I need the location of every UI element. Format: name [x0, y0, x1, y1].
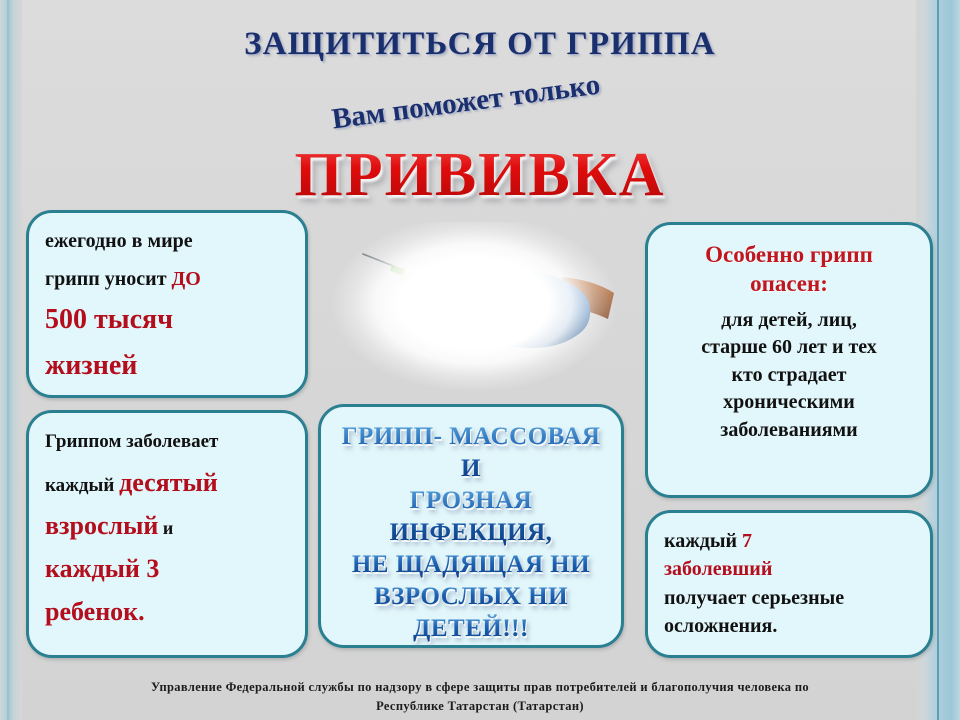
annual-line-2-plain: грипп уносит	[45, 268, 172, 290]
risk-body: для детей, лиц, старше 60 лет и тех кто …	[658, 307, 920, 445]
gloved-hand-syringe-photo	[330, 222, 630, 402]
complications-line-1-plain: каждый	[664, 530, 742, 552]
annual-line-1: ежегодно в мире	[45, 227, 289, 255]
complications-line-4: осложнения.	[664, 612, 914, 640]
risk-body-line-1: для детей, лиц,	[658, 307, 920, 335]
center-line-2: ГРОЗНАЯ ИНФЕКЦИЯ,	[331, 485, 611, 549]
fact-box-complications-content: каждый 7 заболевший получает серьезные о…	[648, 513, 930, 655]
fact-box-annual-deaths: ежегодно в мире грипп уносит ДО 500 тыся…	[26, 210, 308, 398]
center-line-3: НЕ ЩАДЯЩАЯ НИ	[331, 549, 611, 581]
page-subtitle-text: Вам поможет только	[330, 69, 602, 137]
complications-line-2: заболевший	[664, 555, 914, 583]
risk-heading-line-1: Особенно грипп	[658, 241, 920, 270]
footer-line-1: Управление Федеральной службы по надзору…	[40, 678, 920, 697]
incidence-line-2-accent: десятый	[119, 468, 218, 497]
incidence-line-5: ребенок.	[45, 594, 289, 631]
fact-box-risk-groups: Особенно грипп опасен: для детей, лиц, с…	[645, 222, 933, 498]
risk-body-line-2: старше 60 лет и тех	[658, 334, 920, 362]
photo-vignette	[330, 222, 630, 392]
annual-line-3: 500 тысяч	[45, 300, 289, 340]
annual-line-2: грипп уносит ДО	[45, 265, 289, 293]
center-line-4: ВЗРОСЛЫХ НИ	[331, 581, 611, 613]
incidence-line-4: каждый 3	[45, 551, 289, 588]
poster-canvas: ЗАЩИТИТЬСЯ ОТ ГРИППА Вам поможет только …	[0, 0, 960, 720]
headline-vaccination: ПРИВИВКА	[0, 140, 960, 211]
fact-box-mass-infection-content: ГРИПП- МАССОВАЯ И ГРОЗНАЯ ИНФЕКЦИЯ, НЕ Щ…	[321, 407, 621, 655]
incidence-line-2: каждый десятый	[45, 465, 289, 502]
left-edge-stripe	[0, 0, 22, 720]
complications-line-1: каждый 7	[664, 527, 914, 555]
center-line-1: ГРИПП- МАССОВАЯ И	[331, 421, 611, 485]
risk-body-line-4: хроническими	[658, 389, 920, 417]
risk-body-line-3: кто страдает	[658, 362, 920, 390]
fact-box-mass-infection: ГРИПП- МАССОВАЯ И ГРОЗНАЯ ИНФЕКЦИЯ, НЕ Щ…	[318, 404, 624, 648]
annual-line-4: жизней	[45, 346, 289, 386]
center-line-5: ДЕТЕЙ!!!	[331, 613, 611, 645]
fact-box-complications: каждый 7 заболевший получает серьезные о…	[645, 510, 933, 658]
footer-line-2: Республике Татарстан (Татарстан)	[40, 697, 920, 716]
fact-box-risk-groups-content: Особенно грипп опасен: для детей, лиц, с…	[648, 225, 930, 460]
risk-heading: Особенно грипп опасен:	[658, 241, 920, 299]
complications-line-3: получает серьезные	[664, 584, 914, 612]
incidence-line-3: взрослый и	[45, 508, 289, 545]
page-title: ЗАЩИТИТЬСЯ ОТ ГРИППА	[0, 26, 960, 63]
risk-body-line-5: заболеваниями	[658, 417, 920, 445]
risk-heading-line-2: опасен:	[658, 270, 920, 299]
fact-box-incidence: Гриппом заболевает каждый десятый взросл…	[26, 410, 308, 658]
incidence-line-2-plain: каждый	[45, 475, 119, 496]
complications-line-1-accent: 7	[742, 530, 752, 552]
incidence-line-3-accent: взрослый	[45, 511, 158, 540]
fact-box-annual-deaths-content: ежегодно в мире грипп уносит ДО 500 тыся…	[29, 213, 305, 399]
fact-box-incidence-content: Гриппом заболевает каждый десятый взросл…	[29, 413, 305, 647]
incidence-line-1: Гриппом заболевает	[45, 429, 289, 456]
annual-line-2-accent: ДО	[172, 268, 201, 290]
page-subtitle: Вам поможет только	[275, 61, 656, 143]
footer-agency: Управление Федеральной службы по надзору…	[40, 678, 920, 717]
incidence-line-3-plain: и	[158, 518, 173, 538]
